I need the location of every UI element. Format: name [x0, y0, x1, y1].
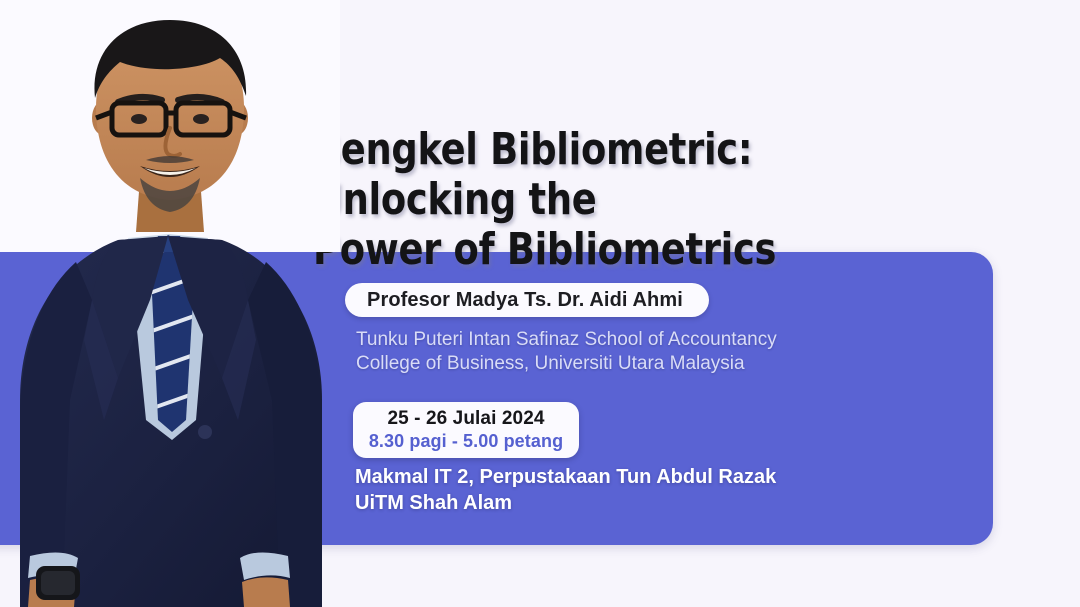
speaker-portrait: [0, 0, 340, 607]
smartwatch: [36, 566, 80, 600]
event-poster: Bengkel Bibliometric: Unlocking the Powe…: [0, 0, 1080, 607]
jacket-button: [198, 425, 212, 439]
event-date: 25 - 26 Julai 2024: [353, 407, 579, 430]
event-time: 8.30 pagi - 5.00 petang: [353, 430, 579, 452]
speaker-name-pill: Profesor Madya Ts. Dr. Aidi Ahmi: [345, 283, 709, 317]
schedule-pill: 25 - 26 Julai 2024 8.30 pagi - 5.00 peta…: [353, 402, 579, 458]
speaker-name: Profesor Madya Ts. Dr. Aidi Ahmi: [367, 289, 683, 312]
speaker-affiliation: Tunku Puteri Intan Safinaz School of Acc…: [356, 328, 777, 376]
event-venue: Makmal IT 2, Perpustakaan Tun Abdul Raza…: [355, 464, 776, 516]
hand-right: [242, 577, 290, 607]
page-title: Bengkel Bibliometric: Unlocking the Powe…: [313, 125, 964, 275]
